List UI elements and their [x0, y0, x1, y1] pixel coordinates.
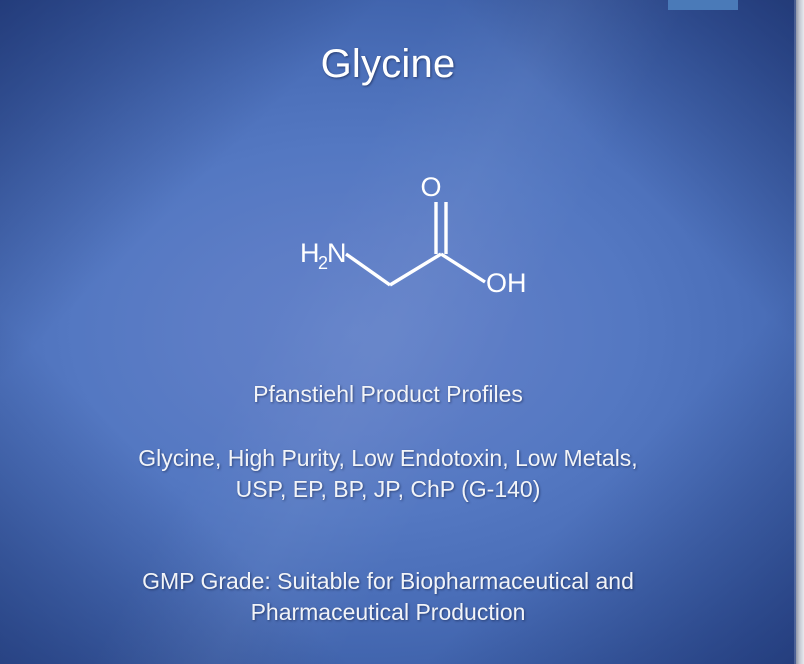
slide-frame-right-edge [796, 0, 804, 664]
gmp-grade-line-1: GMP Grade: Suitable for Biopharmaceutica… [0, 566, 776, 597]
product-description-line-2: USP, EP, BP, JP, ChP (G-140) [0, 474, 776, 505]
gmp-grade-block: GMP Grade: Suitable for Biopharmaceutica… [0, 566, 776, 628]
atom-label-carbonyl-oxygen: O [420, 172, 441, 202]
presentation-slide: Glycine H 2 N O OH Pfanstiehl Product Pr… [0, 0, 804, 664]
gmp-grade-line-2: Pharmaceutical Production [0, 597, 776, 628]
product-description-line-1: Glycine, High Purity, Low Endotoxin, Low… [0, 443, 776, 474]
page-title: Glycine [0, 38, 776, 90]
bond-carbonyl-to-hydroxyl [441, 254, 485, 282]
bond-alpha-carbon-to-carbonyl [390, 254, 441, 285]
bond-amine-to-alpha-carbon [346, 254, 390, 285]
subtitle-text: Pfanstiehl Product Profiles [0, 379, 776, 410]
slide-background-sheen [0, 0, 804, 664]
glycine-molecule-diagram: H 2 N O OH [280, 168, 550, 313]
atom-label-nitrogen: N [327, 238, 347, 268]
top-accent-bar [668, 0, 738, 10]
atom-label-hydroxyl: OH [486, 268, 527, 298]
atom-label-hydrogen: H [300, 238, 320, 268]
product-description-block: Glycine, High Purity, Low Endotoxin, Low… [0, 443, 776, 505]
